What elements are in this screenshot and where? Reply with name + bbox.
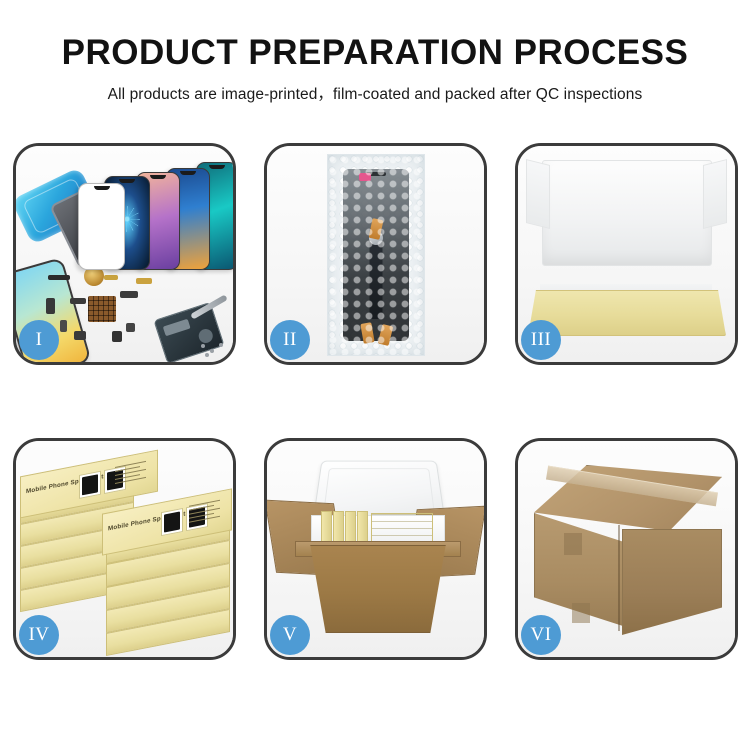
- box-flap-right-icon: [703, 159, 727, 229]
- step-badge-4: IV: [19, 615, 59, 655]
- carton-right-face-icon: [622, 529, 722, 635]
- process-step-panel-3[interactable]: III: [515, 143, 738, 365]
- process-step-panel-5[interactable]: V: [264, 438, 487, 660]
- process-step-panel-2[interactable]: II: [264, 143, 487, 365]
- part-connector-icon: [126, 323, 135, 332]
- carton-patch-icon: [564, 533, 582, 555]
- part-flex-cable-icon: [120, 291, 138, 298]
- process-step-panel-6[interactable]: VI: [515, 438, 738, 660]
- box-flap-left-icon: [526, 159, 550, 229]
- page-subtitle: All products are image-printed，film-coat…: [0, 73, 750, 104]
- process-step-panel-1[interactable]: I: [13, 143, 236, 365]
- box-spec-lines-icon: [115, 460, 151, 491]
- box-window-icon: [161, 508, 183, 536]
- phone-fan-group: [78, 158, 233, 270]
- box-stack-group: Mobile Phone Spare Parts Mobile Phone Sp…: [20, 455, 228, 645]
- notch-icon: [180, 171, 196, 175]
- box-spec-lines-icon: [189, 499, 225, 530]
- part-gold-flex-icon: [136, 278, 152, 284]
- step-badge-5: V: [270, 615, 310, 655]
- header: PRODUCT PREPARATION PROCESS All products…: [0, 0, 750, 104]
- part-button-icon: [112, 331, 122, 342]
- screws-group-icon: [199, 342, 225, 358]
- notch-icon: [150, 175, 166, 179]
- notch-icon: [94, 186, 110, 190]
- page-title: PRODUCT PREPARATION PROCESS: [0, 0, 750, 73]
- carton-patch-icon: [572, 603, 590, 623]
- pink-label-icon: [359, 173, 371, 181]
- process-step-panel-4[interactable]: Mobile Phone Spare Parts Mobile Phone Sp…: [13, 438, 236, 660]
- notch-icon: [119, 179, 135, 183]
- part-sim-tray-icon: [60, 320, 67, 332]
- step-badge-2: II: [270, 320, 310, 360]
- phone-white-icon: [78, 183, 125, 270]
- part-gold-contact-icon: [104, 275, 118, 280]
- part-ribbon-icon: [70, 298, 86, 304]
- box-window-icon: [79, 471, 101, 499]
- step-badge-1: I: [19, 320, 59, 360]
- carton-seam-icon: [618, 525, 620, 631]
- step-badge-3: III: [521, 320, 561, 360]
- part-camera-icon: [74, 331, 86, 340]
- part-vibrator-icon: [46, 298, 55, 314]
- part-earpiece-icon: [48, 275, 70, 280]
- product-preparation-process-page: PRODUCT PREPARATION PROCESS All products…: [0, 0, 750, 750]
- process-step-grid: I II: [13, 143, 737, 660]
- step-badge-6: VI: [521, 615, 561, 655]
- notch-icon: [209, 165, 225, 169]
- bubble-wrap-bag-icon: [327, 154, 425, 356]
- chip-grid-icon: [88, 296, 116, 322]
- box-lid-icon: [542, 160, 712, 266]
- carton-body-icon: [301, 545, 455, 633]
